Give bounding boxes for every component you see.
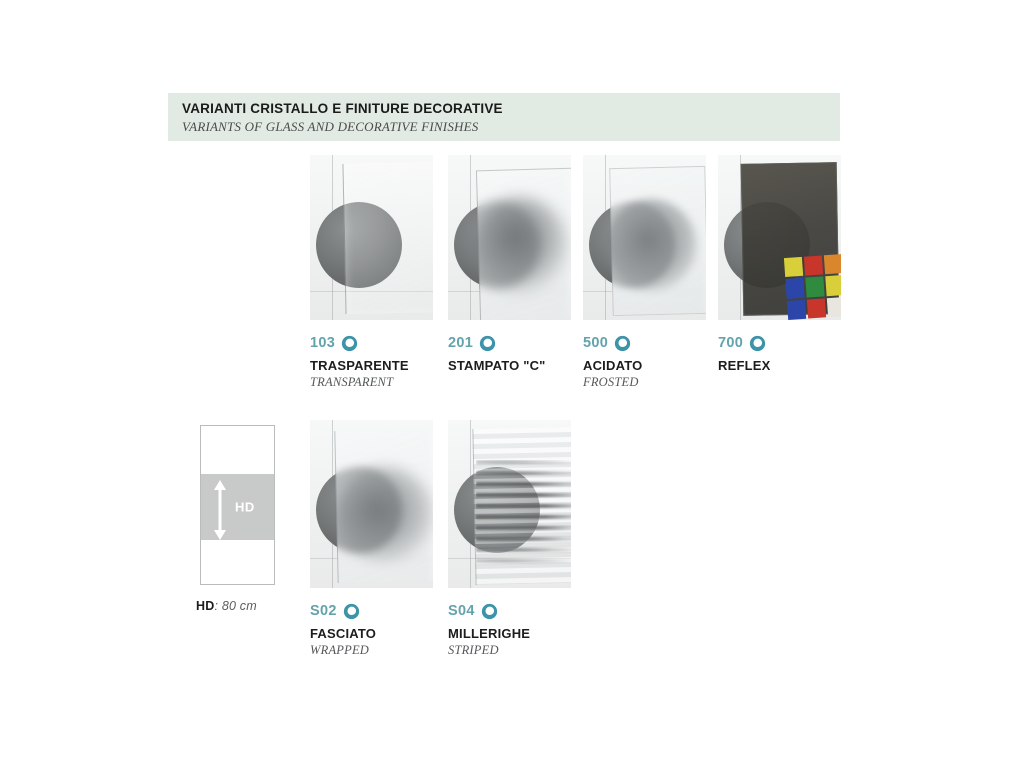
page-title: VARIANTI CRISTALLO E FINITURE DECORATIVE [182,100,840,117]
hd-diagram: HD [200,425,275,585]
page-subtitle: VARIANTS OF GLASS AND DECORATIVE FINISHE… [182,118,840,135]
variant-name-it: STAMPATO "C" [448,358,571,373]
variant-photo-transparent [310,155,433,320]
frosted-sphere-overlay [605,199,697,291]
diffused-sphere-overlay [472,197,568,293]
variant-code-line: S04 [448,602,571,620]
variant-photo-acidato [583,155,706,320]
color-swatch [804,255,823,276]
variant-photo-reflex [718,155,841,320]
variant-name-it: REFLEX [718,358,841,373]
color-swatch [825,275,841,296]
variant-tile-s04[interactable]: S04 MILLERIGHE STRIPED [448,420,571,658]
color-swatch [824,254,841,275]
glass-finish-icon [479,335,496,352]
variant-caption: 500 ACIDATO FROSTED [583,334,706,390]
color-reference-grid [784,254,841,320]
variant-code-line: 103 [310,334,433,352]
variant-photo-fasciato [310,420,433,588]
variant-photo-stampato-c [448,155,571,320]
color-swatch [807,298,826,319]
variant-code-line: 700 [718,334,841,352]
glass-finish-icon [749,335,766,352]
variant-caption: S04 MILLERIGHE STRIPED [448,602,571,658]
variant-code: S02 [310,603,337,619]
variant-tile-500[interactable]: 500 ACIDATO FROSTED [583,155,706,390]
color-swatch [784,257,803,278]
glass-finish-icon [341,335,358,352]
variant-name-it: TRASPARENTE [310,358,433,373]
variant-tile-201[interactable]: 201 STAMPATO "C" [448,155,571,375]
color-swatch [787,299,806,320]
variant-name-it: MILLERIGHE [448,626,571,641]
variant-code: 500 [583,335,608,351]
glass-finish-icon [343,603,360,620]
hd-caption-value: : 80 cm [214,599,256,613]
wrapped-sphere-overlay [336,466,433,562]
variant-code: 201 [448,335,473,351]
glass-finish-icon [614,335,631,352]
variant-caption: S02 FASCIATO WRAPPED [310,602,433,658]
variant-tile-s02[interactable]: S02 FASCIATO WRAPPED [310,420,433,658]
variant-code-line: S02 [310,602,433,620]
variant-caption: 700 REFLEX [718,334,841,373]
color-swatch [827,297,841,318]
variant-code-line: 500 [583,334,706,352]
variant-code-line: 201 [448,334,571,352]
variant-photo-millerighe [448,420,571,588]
variant-tile-103[interactable]: 103 TRASPARENTE TRANSPARENT [310,155,433,390]
variant-caption: 201 STAMPATO "C" [448,334,571,373]
double-arrow-icon [213,480,227,540]
color-swatch [805,277,824,298]
variant-code: 700 [718,335,743,351]
variant-name-it: ACIDATO [583,358,706,373]
color-swatch [785,278,804,299]
variant-tile-700[interactable]: 700 REFLEX [718,155,841,375]
hd-caption-key: HD [196,599,214,613]
glass-finish-icon [481,603,498,620]
hd-band: HD [201,474,274,540]
variant-name-en: TRANSPARENT [310,375,433,390]
variant-code: 103 [310,335,335,351]
section-header-band: VARIANTI CRISTALLO E FINITURE DECORATIVE… [168,93,840,141]
variant-name-it: FASCIATO [310,626,433,641]
variant-code: S04 [448,603,475,619]
variant-name-en: WRAPPED [310,643,433,658]
glass-pane-transparent [342,162,433,314]
variant-name-en: FROSTED [583,375,706,390]
variant-name-en: STRIPED [448,643,571,658]
hd-figure-label: HD [235,500,255,515]
striped-sphere-overlay [476,460,571,566]
variant-caption: 103 TRASPARENTE TRANSPARENT [310,334,433,390]
